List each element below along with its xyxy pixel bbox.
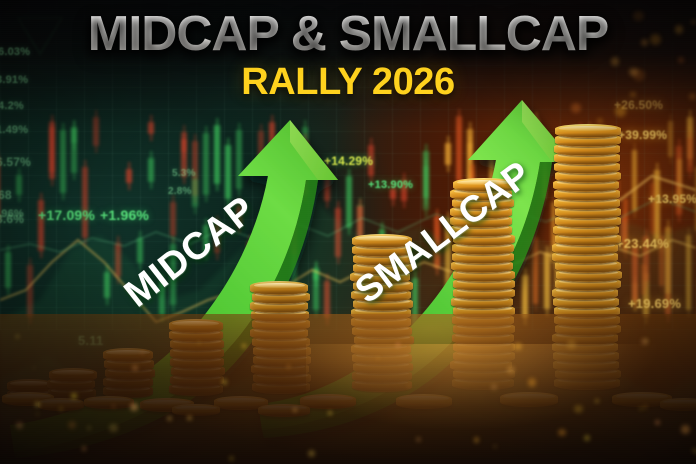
loose-coin xyxy=(84,396,134,409)
coin-stack xyxy=(48,361,96,400)
coin-stack xyxy=(104,341,154,398)
loose-coin xyxy=(258,404,310,417)
arrow-label-smallcap: SMALLCAP xyxy=(352,228,582,328)
promo-banner: 6.03%3.91%4.2%1.49%6.57%683.6%5.3%2.8%.9… xyxy=(0,0,696,464)
arrow-label-midcap: MIDCAP xyxy=(118,248,318,348)
page-subtitle: RALLY 2026 xyxy=(0,62,696,102)
page-title: MIDCAP & SMALLCAP xyxy=(0,8,696,60)
loose-coin xyxy=(38,398,84,411)
loose-coin xyxy=(660,398,696,411)
loose-coin xyxy=(172,404,220,416)
title-block: MIDCAP & SMALLCAP RALLY 2026 xyxy=(0,8,696,102)
loose-coin xyxy=(500,392,558,407)
loose-coin xyxy=(396,394,452,409)
